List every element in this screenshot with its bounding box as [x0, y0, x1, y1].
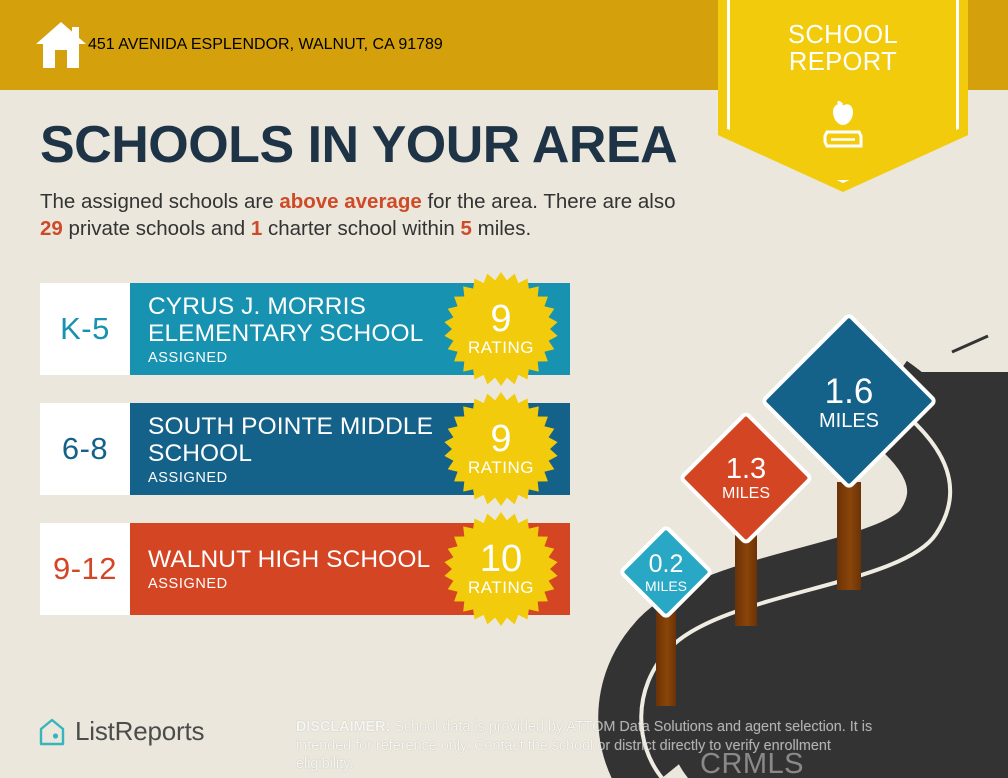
school-rating-badge: 9 RATING	[444, 392, 558, 506]
starburst-icon	[444, 392, 558, 506]
school-name: WALNUT HIGH SCHOOL	[148, 546, 443, 573]
school-name: SOUTH POINTE MIDDLE SCHOOL	[148, 413, 443, 467]
summary-part-1: The assigned schools are	[40, 190, 279, 213]
home-icon	[34, 20, 88, 70]
school-grade-box: 6-8	[40, 403, 130, 495]
school-grade-box: 9-12	[40, 523, 130, 615]
crmls-watermark: CRMLS	[700, 748, 804, 778]
school-grade-label: 6-8	[62, 431, 108, 467]
summary-highlight-charter-count: 1	[251, 217, 262, 240]
badge-title-line1: SCHOOL	[718, 22, 968, 49]
listreports-mark-icon	[38, 717, 66, 747]
summary-highlight-rating: above average	[279, 190, 421, 213]
school-rating-badge: 9 RATING	[444, 272, 558, 386]
school-row[interactable]: 9-12 WALNUT HIGH SCHOOL ASSIGNED 10 RATI…	[40, 523, 570, 615]
apple-on-book-icon	[811, 92, 875, 154]
summary-part-5: miles.	[472, 217, 531, 240]
school-row[interactable]: K-5 CYRUS J. MORRIS ELEMENTARY SCHOOL AS…	[40, 283, 570, 375]
school-row[interactable]: 6-8 SOUTH POINTE MIDDLE SCHOOL ASSIGNED …	[40, 403, 570, 495]
badge-title-line2: REPORT	[718, 49, 968, 76]
school-report-infographic: 451 AVENIDA ESPLENDOR, WALNUT, CA 91789 …	[0, 0, 1008, 778]
header-address: 451 AVENIDA ESPLENDOR, WALNUT, CA 91789	[88, 36, 443, 54]
title-block: SCHOOLS IN YOUR AREA The assigned school…	[40, 118, 700, 242]
badge-title: SCHOOL REPORT	[718, 22, 968, 76]
sign-plate	[760, 312, 938, 490]
summary-text: The assigned schools are above average f…	[40, 188, 700, 242]
sign-post	[837, 482, 861, 590]
distance-sign: 1.6 MILES	[754, 310, 944, 590]
summary-highlight-private-count: 29	[40, 217, 63, 240]
page-title: SCHOOLS IN YOUR AREA	[40, 118, 700, 172]
listreports-logo[interactable]: ListReports	[38, 716, 204, 747]
school-report-badge: SCHOOL REPORT	[718, 0, 968, 192]
school-grade-label: K-5	[60, 311, 110, 347]
school-rating-badge: 10 RATING	[444, 512, 558, 626]
disclaimer-label: DISCLAIMER:	[296, 719, 390, 735]
summary-part-4: charter school within	[262, 217, 460, 240]
listreports-wordmark: ListReports	[75, 716, 204, 747]
starburst-icon	[444, 272, 558, 386]
school-grade-box: K-5	[40, 283, 130, 375]
summary-highlight-radius: 5	[461, 217, 472, 240]
summary-part-3: private schools and	[63, 217, 251, 240]
schools-list: K-5 CYRUS J. MORRIS ELEMENTARY SCHOOL AS…	[40, 283, 570, 643]
school-grade-label: 9-12	[53, 551, 117, 587]
starburst-icon	[444, 512, 558, 626]
school-name: CYRUS J. MORRIS ELEMENTARY SCHOOL	[148, 293, 443, 347]
summary-part-2: for the area. There are also	[422, 190, 676, 213]
